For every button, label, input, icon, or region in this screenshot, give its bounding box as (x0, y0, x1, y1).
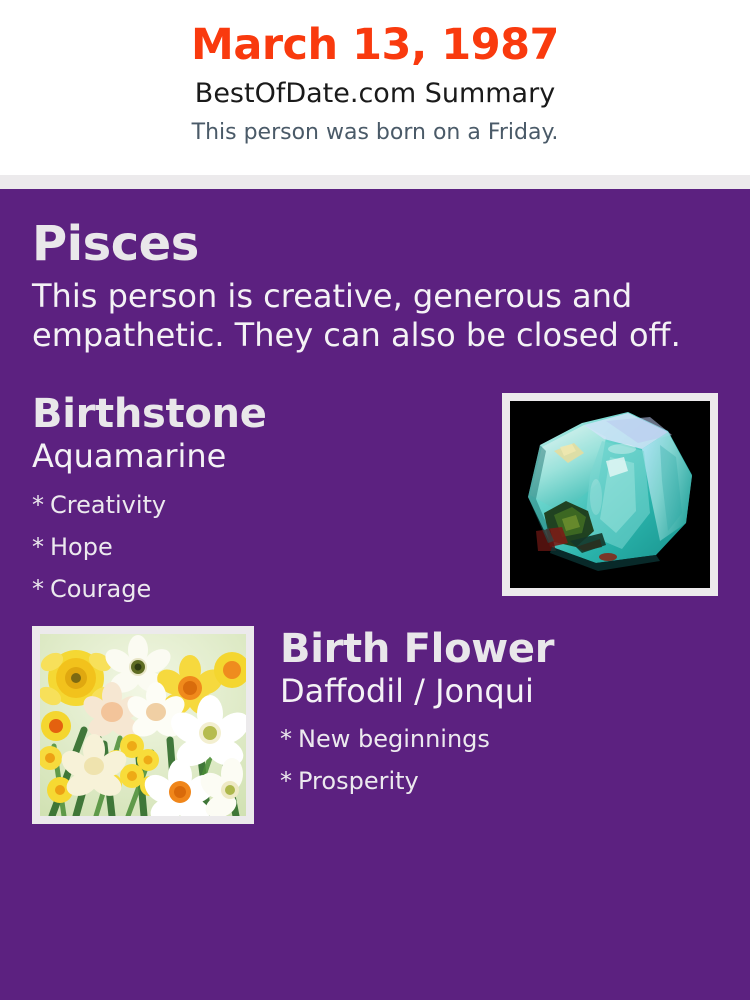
birthstone-trait-list: *Creativity *Hope *Courage (32, 484, 267, 610)
daffodil-flowers-icon (40, 634, 246, 816)
birthstone-section: Birthstone Aquamarine *Creativity *Hope … (32, 389, 718, 609)
birth-flower-image-frame (32, 626, 254, 824)
list-item: *Hope (32, 526, 267, 568)
header-divider (0, 175, 750, 189)
page-title: March 13, 1987 (20, 22, 730, 68)
list-item: *Prosperity (280, 760, 554, 802)
birth-flower-section: Birth Flower Daffodil / Jonqui *New begi… (32, 626, 718, 824)
zodiac-section: Pisces This person is creative, generous… (32, 219, 718, 355)
daffodil-flowers-image (40, 634, 246, 816)
born-day-text: This person was born on a Friday. (20, 119, 730, 148)
birth-flower-text-block: Birth Flower Daffodil / Jonqui *New begi… (280, 626, 554, 802)
birth-flower-trait-list: *New beginnings *Prosperity (280, 718, 554, 802)
bullet-star-icon: * (280, 725, 292, 753)
birth-flower-name: Daffodil / Jonqui (280, 672, 554, 710)
bullet-star-icon: * (280, 767, 292, 795)
birthstone-image-frame (502, 393, 718, 596)
zodiac-sign-name: Pisces (32, 219, 718, 269)
birthstone-trait-label: Hope (50, 533, 113, 561)
aquamarine-crystal-icon (510, 401, 710, 588)
bullet-star-icon: * (32, 575, 44, 603)
list-item: *Creativity (32, 484, 267, 526)
zodiac-description: This person is creative, generous and em… (32, 277, 712, 355)
date-summary-card: March 13, 1987 BestOfDate.com Summary Th… (0, 0, 750, 1000)
site-summary-label: BestOfDate.com Summary (20, 76, 730, 112)
list-item: *Courage (32, 568, 267, 610)
header: March 13, 1987 BestOfDate.com Summary Th… (0, 0, 750, 175)
birth-flower-trait-label: Prosperity (298, 767, 419, 795)
aquamarine-crystal-image (510, 401, 710, 588)
birthstone-text-block: Birthstone Aquamarine *Creativity *Hope … (32, 389, 267, 609)
bullet-star-icon: * (32, 491, 44, 519)
details-panel: Pisces This person is creative, generous… (0, 189, 750, 1000)
birthstone-trait-label: Creativity (50, 491, 166, 519)
birth-flower-heading: Birth Flower (280, 628, 554, 670)
birthstone-name: Aquamarine (32, 437, 267, 475)
birth-flower-trait-label: New beginnings (298, 725, 490, 753)
birthstone-heading: Birthstone (32, 393, 267, 435)
list-item: *New beginnings (280, 718, 554, 760)
birthstone-trait-label: Courage (50, 575, 151, 603)
bullet-star-icon: * (32, 533, 44, 561)
